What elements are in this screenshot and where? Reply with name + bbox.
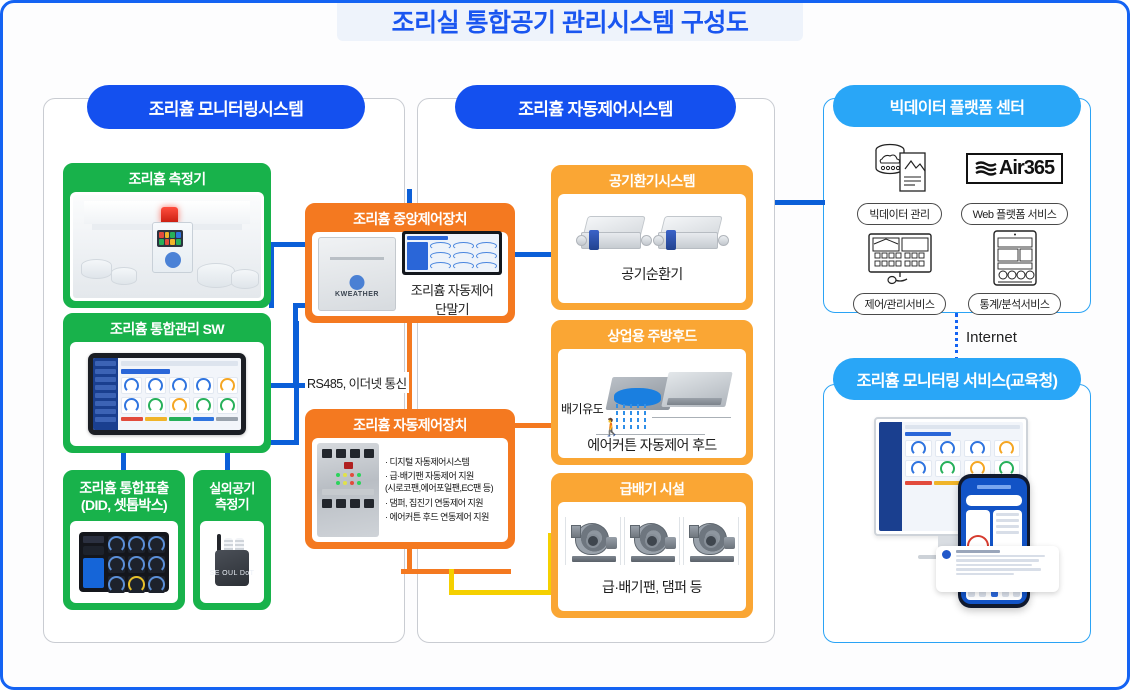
card-integrated-sw-body <box>70 342 264 446</box>
card-central-controller[interactable]: 조리흄 중앙제어장치 KWEATHER <box>305 203 515 323</box>
autodevice-bullet-1: · 급·배기팬 자동제어 지원 <box>385 471 503 482</box>
card-central-body: KWEATHER <box>312 232 508 316</box>
card-integrated-sw-title: 조리흄 통합관리 SW <box>66 316 268 342</box>
air365-logo-text: Air365 <box>999 157 1054 180</box>
card-did-body <box>70 521 178 603</box>
line-internet-dotted <box>955 313 958 361</box>
desktop-monitor-icon <box>865 227 935 289</box>
line-sw-to-central <box>269 383 309 388</box>
card-auto-control-device[interactable]: 조리흄 자동제어장치 <box>305 409 515 549</box>
autodevice-bullet-4: · 에어커튼 후드 연동제어 지원 <box>385 512 503 523</box>
card-outdoor-body: SE OUL DoT <box>200 521 264 603</box>
card-supply-exhaust[interactable]: 급배기 시설 급·배기팬, 댐퍼 등 <box>551 473 753 618</box>
card-did-title-line1: 조리흄 통합표출 <box>79 480 168 498</box>
pill-autocontrol-label: 조리흄 자동제어시스템 <box>518 95 673 120</box>
autodevice-bullet-3: · 댐퍼, 집진기 연동제어 지원 <box>385 498 503 509</box>
person-icon: 🚶 <box>601 419 622 436</box>
bigdata-item-2-label: 제어/관리서비스 <box>853 293 947 315</box>
pill-bigdata-center: 빅데이터 플랫폼 센터 <box>833 85 1081 127</box>
diagram-title-bar: 조리실 통합공기 관리시스템 구성도 <box>337 0 803 41</box>
outdoor-sensor-illustration: SE OUL DoT <box>211 533 252 591</box>
line-fans-yellow-horiz <box>449 590 553 595</box>
bigdata-item-0-label: 빅데이터 관리 <box>857 203 941 225</box>
alarm-beacon-icon <box>161 207 178 222</box>
page-title: 조리실 통합공기 관리시스템 구성도 <box>392 0 749 39</box>
dashboard-main <box>118 358 241 431</box>
card-did-title-line2: (DID, 셋톱박스) <box>81 497 167 515</box>
pill-monitoring-service: 조리흄 모니터링 서비스(교육청) <box>833 358 1081 400</box>
card-did-display[interactable]: 조리흄 통합표출 (DID, 셋톱박스) <box>63 470 185 610</box>
card-outdoor-title-line1: 실외공기 <box>209 481 254 497</box>
card-hood-caption: 에어커튼 자동제어 후드 <box>554 435 750 455</box>
diagram-canvas: 조리실 통합공기 관리시스템 구성도 조리흄 모니터링시스템 조리흄 자동제어시… <box>0 0 1130 690</box>
bigdata-item-1-label: Web 플랫폼 서비스 <box>961 203 1069 225</box>
internet-label: Internet <box>966 329 1017 346</box>
line-meter-to-central <box>269 242 309 247</box>
air365-logo: Air365 <box>966 137 1063 199</box>
card-outdoor-meter[interactable]: 실외공기 측정기 SE OUL DoT <box>193 470 271 610</box>
bigdata-item-3-label: 통계/분석서비스 <box>968 293 1062 315</box>
tablet-dashboard-illustration <box>88 353 246 436</box>
notification-avatar <box>942 550 951 559</box>
terminal-screen-illustration <box>402 231 502 275</box>
card-hood-side-label: 배기유도 <box>561 400 603 417</box>
meter-screen <box>157 230 183 247</box>
did-board-illustration <box>79 532 169 591</box>
wall-mounted-meter <box>152 222 193 274</box>
card-central-caption-2: 단말기 <box>435 299 469 318</box>
pill-monitoring-service-label: 조리흄 모니터링 서비스(교육청) <box>857 367 1058 391</box>
card-ventilation-title: 공기환기시스템 <box>554 168 750 194</box>
card-hood-body: 🚶 배기유도 에어커튼 자동제어 후드 <box>558 349 746 458</box>
monitoring-service-illustration <box>861 403 1081 633</box>
control-cabinet-illustration <box>317 443 379 537</box>
line-mid-to-bigdata <box>775 200 825 205</box>
brand-logo-icon <box>165 252 181 268</box>
card-fume-meter-title: 조리흄 측정기 <box>66 166 268 192</box>
bigdata-items-grid: 빅데이터 관리 Air365 Web 플랫폼 서비스 <box>829 131 1085 309</box>
bus-label-rs485: RS485, 이더넷 통신 <box>305 372 409 393</box>
bigdata-item-2[interactable]: 제어/관리서비스 <box>843 227 956 315</box>
card-fans-title: 급배기 시설 <box>554 476 750 502</box>
card-autodevice-body: · 디지털 자동제어시스템 · 급·배기팬 자동제어 지원 (시로코팬,에어포일… <box>312 438 508 542</box>
pill-autocontrol-system: 조리흄 자동제어시스템 <box>455 85 736 129</box>
card-outdoor-title: 실외공기 측정기 <box>196 473 268 521</box>
pill-monitoring-label: 조리흄 모니터링시스템 <box>149 95 304 120</box>
card-kitchen-hood[interactable]: 상업용 주방후드 🚶 배기유도 에어커튼 자동제어 후드 <box>551 320 753 465</box>
autodevice-bullet-0: · 디지털 자동제어시스템 <box>385 457 503 468</box>
card-central-title: 조리흄 중앙제어장치 <box>308 206 512 232</box>
bigdata-item-0[interactable]: 빅데이터 관리 <box>843 137 956 225</box>
kweather-device-illustration: KWEATHER <box>318 237 396 311</box>
erv-units-illustration <box>579 214 726 254</box>
card-did-title: 조리흄 통합표출 (DID, 셋톱박스) <box>66 473 182 521</box>
card-fume-meter-body <box>70 192 264 301</box>
card-integrated-sw[interactable]: 조리흄 통합관리 SW <box>63 313 271 453</box>
line-central-to-autodevice <box>407 323 412 409</box>
card-ventilation-caption: 공기순환기 <box>621 264 682 284</box>
tablet-report-icon <box>991 227 1039 289</box>
pill-monitoring-system: 조리흄 모니터링시스템 <box>87 85 365 129</box>
card-outdoor-title-line2: 측정기 <box>215 497 249 513</box>
card-fans-body: 급·배기팬, 댐퍼 등 <box>558 502 746 611</box>
notification-card <box>936 546 1059 592</box>
card-ventilation-system[interactable]: 공기환기시스템 공기순환기 <box>551 165 753 310</box>
bigdata-item-1[interactable]: Air365 Web 플랫폼 서비스 <box>958 137 1071 225</box>
card-fans-caption: 급·배기팬, 댐퍼 등 <box>602 577 702 597</box>
line-autodevice-to-hood <box>515 423 555 428</box>
autodevice-bullet-2: (시로코팬,에어포일팬,EC팬 등) <box>385 483 503 494</box>
kitchen-photo-illustration <box>73 195 261 298</box>
card-ventilation-body: 공기순환기 <box>558 194 746 303</box>
card-autodevice-title: 조리흄 자동제어장치 <box>308 412 512 438</box>
dashboard-sidebar <box>93 358 118 431</box>
card-hood-title: 상업용 주방후드 <box>554 323 750 349</box>
database-document-icon <box>869 137 931 199</box>
line-bottom-bus-up <box>294 321 299 445</box>
pill-bigdata-label: 빅데이터 플랫폼 센터 <box>890 94 1025 118</box>
line-central-to-vent <box>515 252 555 257</box>
card-fume-meter[interactable]: 조리흄 측정기 <box>63 163 271 308</box>
blower-fans-illustration <box>565 517 739 565</box>
card-central-caption-1: 조리흄 자동제어 <box>411 280 494 299</box>
line-autodevice-down-h <box>401 569 511 574</box>
bigdata-item-3[interactable]: 통계/분석서비스 <box>958 227 1071 315</box>
